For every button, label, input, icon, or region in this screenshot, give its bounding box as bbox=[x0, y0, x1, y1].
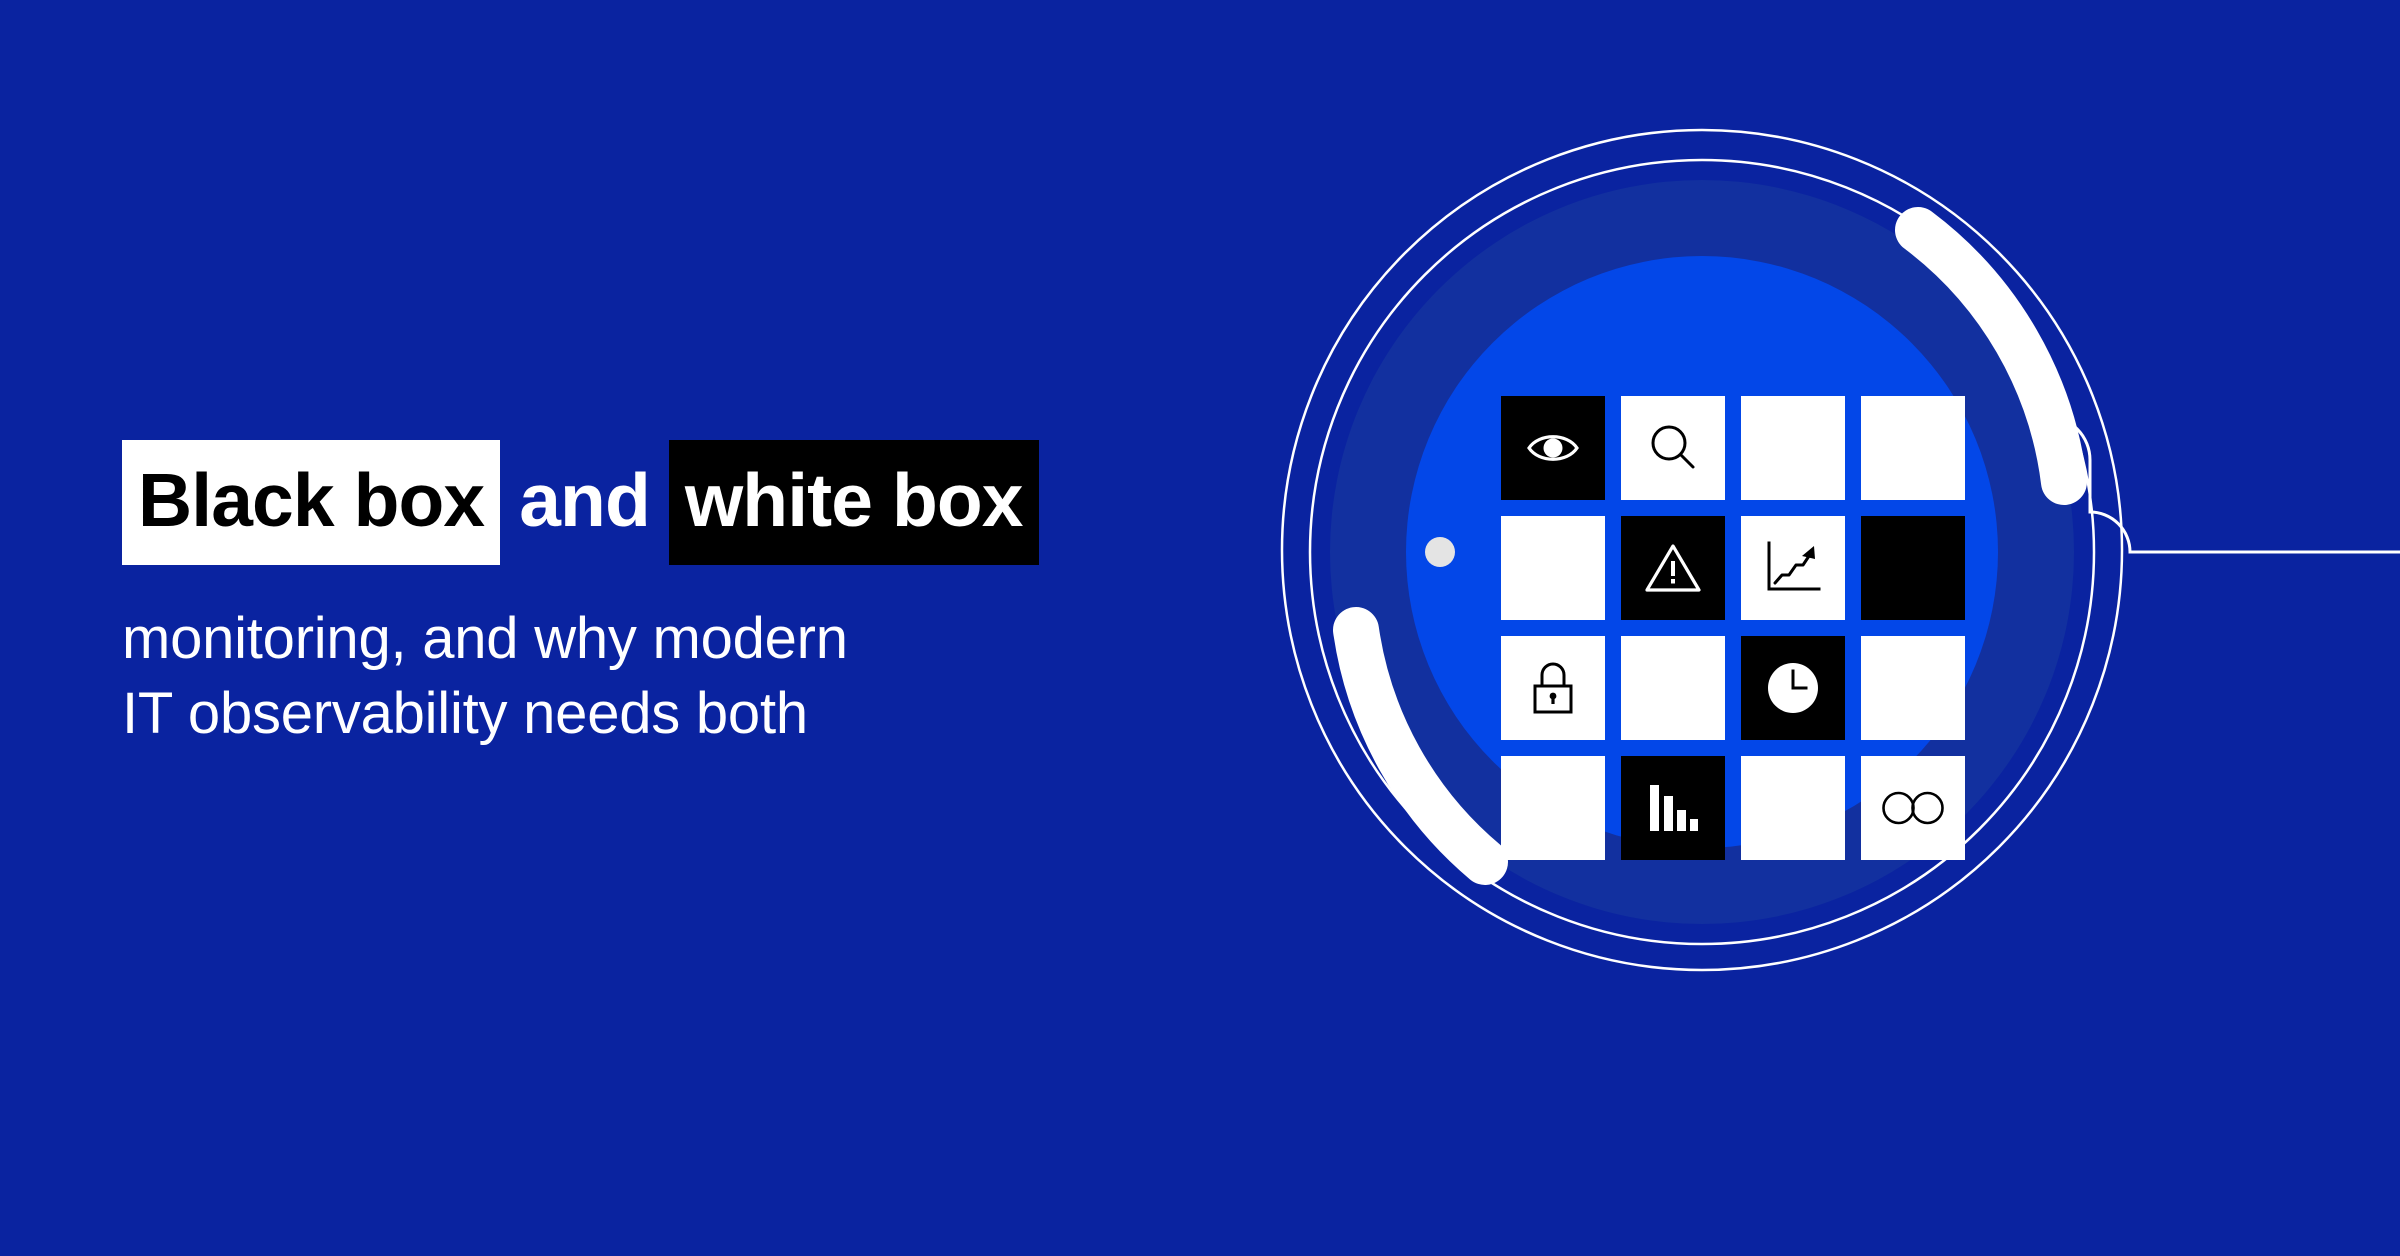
headline-segment-and: and bbox=[500, 440, 669, 565]
infinity-icon bbox=[1881, 790, 1945, 826]
connector-node bbox=[1425, 537, 1455, 567]
lock-icon bbox=[1528, 660, 1578, 716]
grid-cell-blank bbox=[1621, 636, 1725, 740]
grid-cell-bar-chart bbox=[1621, 756, 1725, 860]
grid-cell-eye bbox=[1501, 396, 1605, 500]
search-icon bbox=[1646, 421, 1700, 475]
grid-cell-blank bbox=[1501, 516, 1605, 620]
subtitle-line-1: monitoring, and why modern bbox=[122, 601, 1302, 676]
hero-copy: Black boxandwhite box monitoring, and wh… bbox=[122, 440, 1302, 752]
grid-cell-blank bbox=[1501, 756, 1605, 860]
grid-cell-lock bbox=[1501, 636, 1605, 740]
eye-icon bbox=[1525, 420, 1581, 476]
grid-cell-search bbox=[1621, 396, 1725, 500]
warning-icon bbox=[1644, 541, 1702, 595]
grid-cell-blank bbox=[1741, 756, 1845, 860]
clock-icon bbox=[1762, 657, 1824, 719]
bar-chart-icon bbox=[1644, 779, 1702, 837]
headline-segment-black-box: Black box bbox=[122, 440, 500, 565]
grid-cell-warning bbox=[1621, 516, 1725, 620]
page-title: Black boxandwhite box bbox=[122, 440, 1302, 565]
headline-segment-white-box: white box bbox=[669, 440, 1039, 565]
grid-cell-blank bbox=[1861, 636, 1965, 740]
grid-cell-blank bbox=[1741, 396, 1845, 500]
hero-banner: Black boxandwhite box monitoring, and wh… bbox=[0, 0, 2400, 1256]
grid-cell-clock bbox=[1741, 636, 1845, 740]
grid-cell-blank bbox=[1861, 396, 1965, 500]
icon-grid bbox=[1501, 396, 1965, 860]
trend-up-icon bbox=[1763, 539, 1823, 597]
grid-cell-trend-up bbox=[1741, 516, 1845, 620]
grid-cell-infinity bbox=[1861, 756, 1965, 860]
subtitle-line-2: IT observability needs both bbox=[122, 676, 1302, 751]
grid-cell-blank bbox=[1861, 516, 1965, 620]
